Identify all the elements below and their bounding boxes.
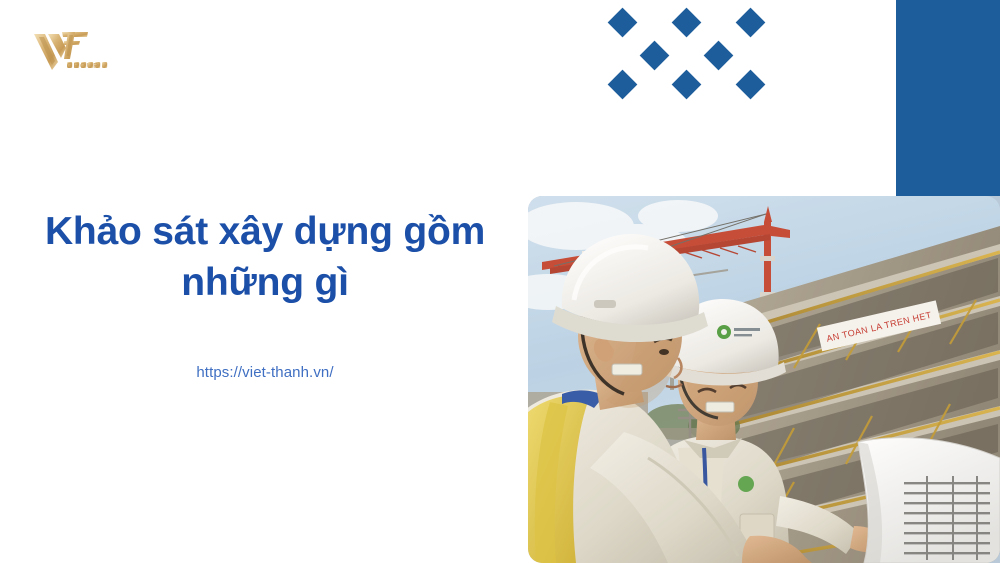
diamond-icon <box>608 70 638 100</box>
slide-canvas: GROUP Khảo sát xây dựng gồm những gì htt… <box>0 0 1000 563</box>
diamond-icon <box>736 70 766 100</box>
diamond-icon <box>640 41 670 71</box>
diamond-icon <box>672 70 702 100</box>
vt-group-logo[interactable]: GROUP <box>28 26 114 76</box>
diamond-icon <box>736 8 766 38</box>
diamond-icon <box>672 8 702 38</box>
text-column: Khảo sát xây dựng gồm những gì https://v… <box>0 196 528 563</box>
blue-accent-block <box>896 0 1000 196</box>
diamond-icon <box>608 8 638 38</box>
logo-wordmark-label: GROUP <box>67 63 99 70</box>
construction-site-photo: TRAN LONG CN .338 <box>528 196 1000 563</box>
diamond-pattern-decoration <box>600 2 772 94</box>
site-url-label[interactable]: https://viet-thanh.vn/ <box>30 364 500 381</box>
diamond-icon <box>704 41 734 71</box>
page-title: Khảo sát xây dựng gồm những gì <box>30 206 500 309</box>
